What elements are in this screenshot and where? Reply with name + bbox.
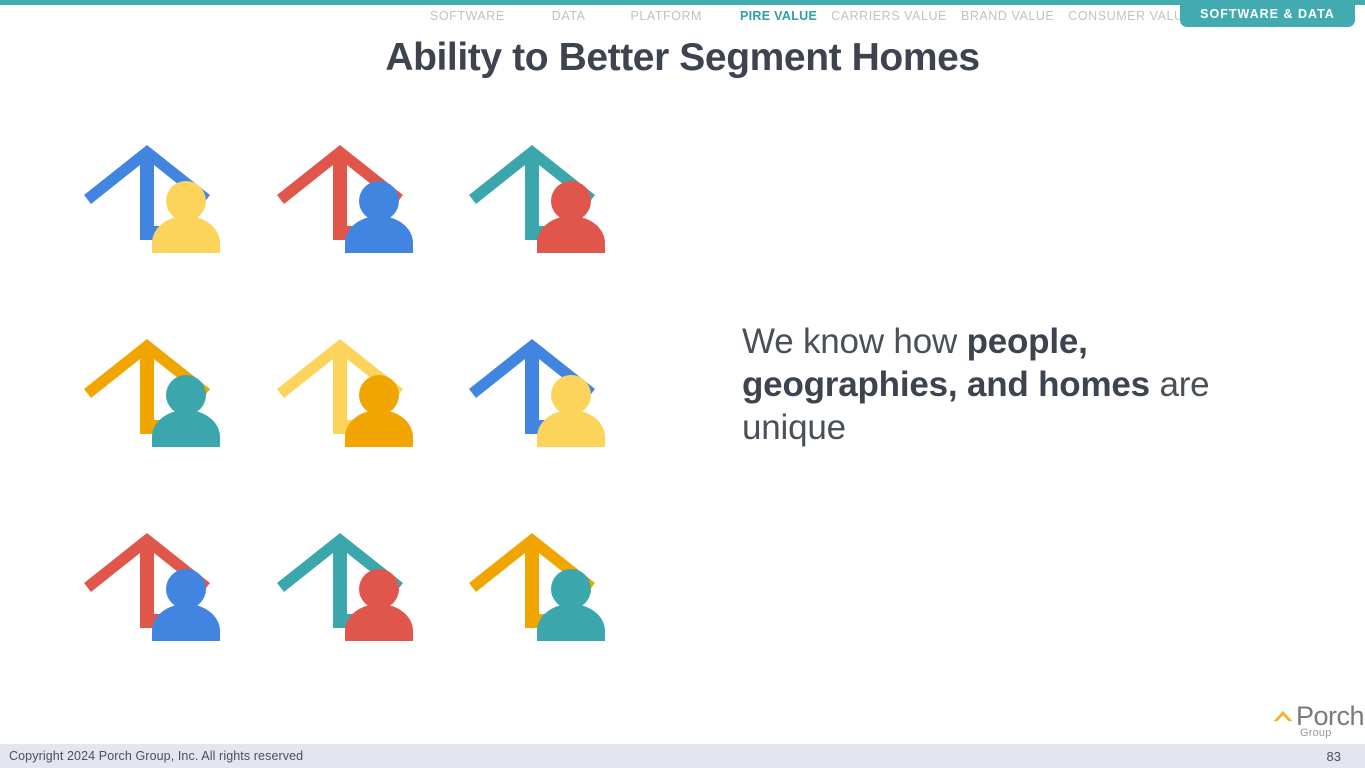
nav-item-data[interactable]: DATA xyxy=(552,9,586,23)
footer-copyright: Copyright 2024 Porch Group, Inc. All rig… xyxy=(9,749,303,763)
house-person-icon xyxy=(271,118,421,253)
nav-item-list: SOFTWAREDATAPLATFORMPIRE VALUECARRIERS V… xyxy=(430,5,1190,27)
person-body xyxy=(345,410,413,447)
value-statement-lead: We know how xyxy=(742,322,967,361)
person-body xyxy=(537,410,605,447)
footer-page-number: 83 xyxy=(1327,749,1341,764)
house-person-icon xyxy=(78,312,228,447)
nav-item-pire-value[interactable]: PIRE VALUE xyxy=(740,9,817,23)
logo-row: Porch xyxy=(1272,702,1364,730)
house-person-icon xyxy=(463,506,613,641)
person-head xyxy=(166,569,206,609)
porch-chevron-icon xyxy=(1272,705,1294,727)
nav-cta-label: SOFTWARE & DATA xyxy=(1200,7,1335,21)
nav-item-consumer-value[interactable]: CONSUMER VALUE xyxy=(1068,9,1192,23)
house-icon-grid xyxy=(78,118,618,653)
person-body xyxy=(152,216,220,253)
nav-item-platform[interactable]: PLATFORM xyxy=(630,9,702,23)
person-head xyxy=(359,569,399,609)
house-person-icon xyxy=(463,118,613,253)
person-head xyxy=(551,569,591,609)
house-person-icon xyxy=(271,506,421,641)
top-navigation: SOFTWAREDATAPLATFORMPIRE VALUECARRIERS V… xyxy=(0,0,1365,27)
nav-item-carriers-value[interactable]: CARRIERS VALUE xyxy=(831,9,947,23)
logo-wordmark: Porch xyxy=(1296,703,1364,730)
person-body xyxy=(152,410,220,447)
house-icon-row xyxy=(78,118,618,312)
house-person-icon xyxy=(271,312,421,447)
footer-bar: Copyright 2024 Porch Group, Inc. All rig… xyxy=(0,744,1365,768)
page-title: Ability to Better Segment Homes xyxy=(0,36,1365,80)
person-body xyxy=(345,604,413,641)
person-head xyxy=(359,375,399,415)
person-body xyxy=(537,604,605,641)
person-head xyxy=(166,375,206,415)
person-body xyxy=(537,216,605,253)
nav-item-software[interactable]: SOFTWARE xyxy=(430,9,505,23)
nav-item-brand-value[interactable]: BRAND VALUE xyxy=(961,9,1054,23)
person-body xyxy=(152,604,220,641)
person-head xyxy=(551,181,591,221)
porch-group-logo: Porch Group xyxy=(1272,702,1364,744)
house-person-icon xyxy=(78,118,228,253)
house-person-icon xyxy=(78,506,228,641)
value-statement: We know how people, geographies, and hom… xyxy=(742,320,1282,449)
house-person-icon xyxy=(463,312,613,447)
person-head xyxy=(166,181,206,221)
house-icon-row xyxy=(78,312,618,506)
person-body xyxy=(345,216,413,253)
person-head xyxy=(359,181,399,221)
nav-cta-software-and-data[interactable]: SOFTWARE & DATA xyxy=(1180,0,1355,27)
person-head xyxy=(551,375,591,415)
house-icon-row xyxy=(78,506,618,700)
